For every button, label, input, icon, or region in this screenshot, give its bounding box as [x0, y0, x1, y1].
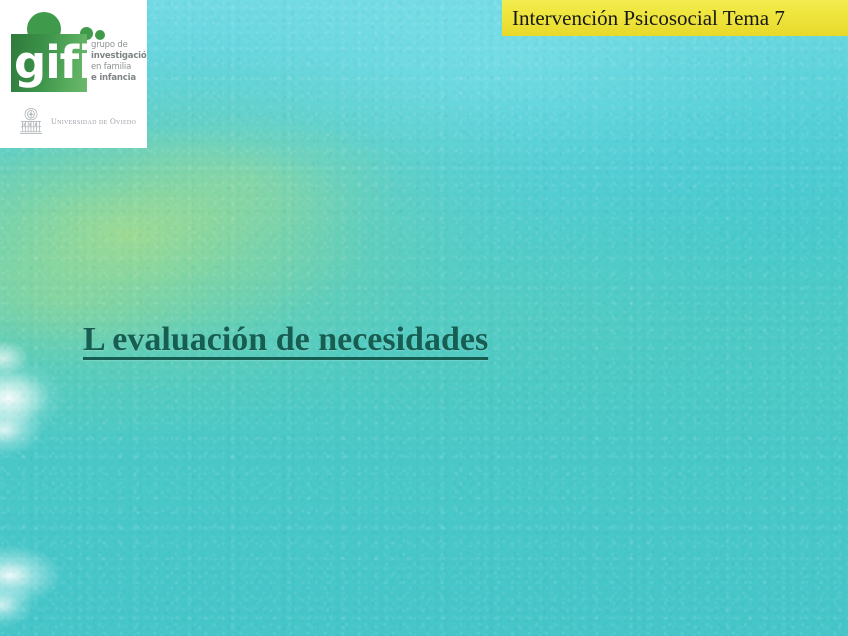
- gifi-tagline-line-1: grupo de: [91, 40, 147, 51]
- university-of-oviedo-logo: Universidad de Oviedo: [18, 107, 136, 135]
- university-seal-icon: [18, 107, 44, 135]
- gifi-tagline-line-4: e infancia: [91, 73, 147, 84]
- gifi-logo: gifi grupo de investigación en familia e…: [11, 10, 139, 94]
- course-topic-label: Intervención Psicosocial Tema 7: [512, 8, 785, 29]
- gifi-dot-small-icon: [95, 30, 105, 40]
- university-name-label: Universidad de Oviedo: [51, 117, 136, 126]
- gifi-wordmark: gifi: [11, 34, 87, 92]
- gifi-tagline: grupo de investigación en familia e infa…: [91, 40, 147, 84]
- logo-card: gifi grupo de investigación en familia e…: [0, 0, 147, 148]
- slide-title: L evaluación de necesidades: [83, 320, 488, 360]
- gifi-tagline-line-2: investigación: [91, 51, 147, 62]
- gifi-tagline-line-3: en familia: [91, 62, 147, 73]
- presentation-slide: gifi grupo de investigación en familia e…: [0, 0, 848, 636]
- header-banner: Intervención Psicosocial Tema 7: [502, 0, 848, 36]
